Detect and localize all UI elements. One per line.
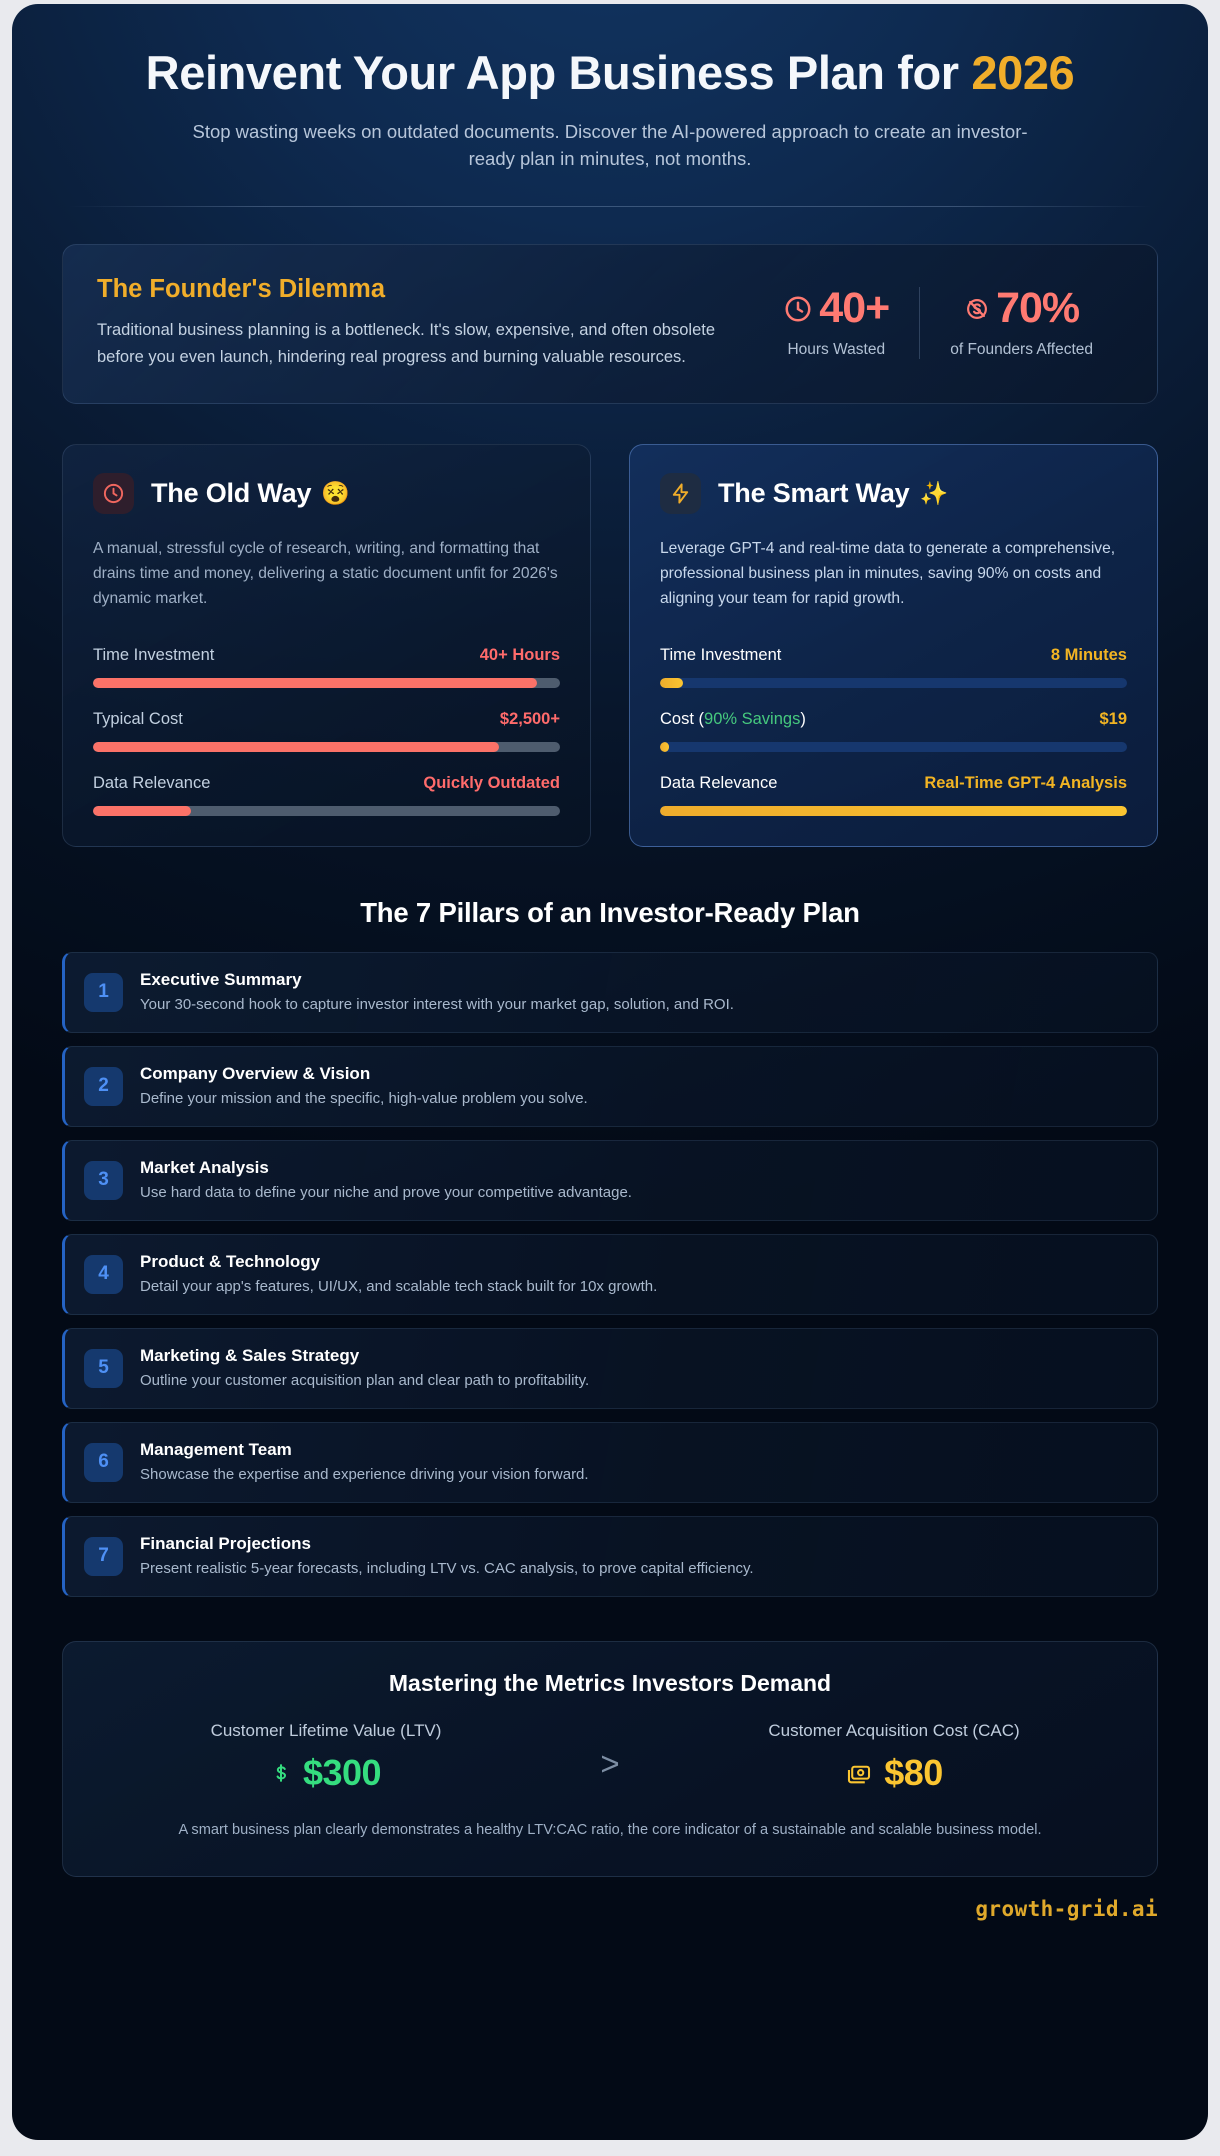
metric-progress-track <box>660 678 1127 688</box>
stat-founders-top: 70% <box>950 287 1093 330</box>
cac-value-wrap: $80 <box>665 1752 1123 1794</box>
dollar-sign-icon <box>271 1760 291 1786</box>
metric-progress-fill <box>93 742 499 752</box>
stat-hours-wasted: 40+ Hours Wasted <box>753 287 919 359</box>
metric-label: Time Investment <box>660 646 781 665</box>
dilemma-text-block: The Founder's Dilemma Traditional busine… <box>97 275 727 370</box>
metric-row: Data Relevance Quickly Outdated <box>93 774 560 816</box>
metrics-note: A smart business plan clearly demonstrat… <box>110 1820 1110 1842</box>
pillar-text: Market Analysis Use hard data to define … <box>140 1158 1135 1203</box>
metric-label-suffix: ) <box>800 710 806 728</box>
pillar-description: Present realistic 5-year forecasts, incl… <box>140 1558 1135 1579</box>
list-item[interactable]: 1 Executive Summary Your 30-second hook … <box>62 952 1158 1033</box>
pillar-name: Company Overview & Vision <box>140 1064 1135 1084</box>
pillar-text: Marketing & Sales Strategy Outline your … <box>140 1346 1135 1391</box>
metric-value: $2,500+ <box>500 710 560 729</box>
pillar-text: Company Overview & Vision Define your mi… <box>140 1064 1135 1109</box>
metric-progress-track <box>660 742 1127 752</box>
metric-progress-fill <box>660 678 683 688</box>
metric-progress-fill <box>660 742 669 752</box>
metric-label-prefix: Cost ( <box>660 710 704 728</box>
pillar-description: Outline your customer acquisition plan a… <box>140 1370 1135 1391</box>
metric-label: Cost (90% Savings) <box>660 710 806 729</box>
metric-value: Quickly Outdated <box>423 774 560 793</box>
smart-way-card: The Smart Way ✨ Leverage GPT-4 and real-… <box>629 444 1158 847</box>
metric-label: Data Relevance <box>93 774 210 793</box>
clock-icon <box>783 294 813 324</box>
metric-row: Data Relevance Real-Time GPT-4 Analysis <box>660 774 1127 816</box>
smart-way-title-wrap: The Smart Way ✨ <box>718 478 948 509</box>
metrics-card-title: Mastering the Metrics Investors Demand <box>97 1670 1123 1697</box>
smart-way-description: Leverage GPT-4 and real-time data to gen… <box>660 536 1127 614</box>
pillar-name: Financial Projections <box>140 1534 1135 1554</box>
metric-label: Typical Cost <box>93 710 183 729</box>
smart-way-metrics: Time Investment 8 Minutes Cost (90% Savi… <box>660 646 1127 816</box>
metric-header: Time Investment 8 Minutes <box>660 646 1127 665</box>
metric-value: 40+ Hours <box>480 646 560 665</box>
greater-than-icon: > <box>555 1735 665 1780</box>
metric-label-savings: 90% Savings <box>704 710 800 728</box>
pillar-name: Executive Summary <box>140 970 1135 990</box>
founders-dilemma-card: The Founder's Dilemma Traditional busine… <box>62 244 1158 403</box>
stat-founders-label: of Founders Affected <box>950 341 1093 359</box>
hero-subtitle: Stop wasting weeks on outdated documents… <box>190 118 1030 173</box>
clock-icon <box>102 482 125 505</box>
pillar-name: Product & Technology <box>140 1252 1135 1272</box>
old-way-header: The Old Way 😵 <box>93 473 560 514</box>
bolt-icon-badge <box>660 473 701 514</box>
smart-way-title: The Smart Way <box>718 478 909 509</box>
metric-value: 8 Minutes <box>1051 646 1127 665</box>
dizzy-face-icon: 😵 <box>321 480 349 507</box>
pillar-number-badge: 7 <box>84 1537 123 1576</box>
old-way-description: A manual, stressful cycle of research, w… <box>93 536 560 614</box>
list-item[interactable]: 2 Company Overview & Vision Define your … <box>62 1046 1158 1127</box>
metric-progress-fill <box>93 678 537 688</box>
pillar-number-badge: 5 <box>84 1349 123 1388</box>
old-way-card: The Old Way 😵 A manual, stressful cycle … <box>62 444 591 847</box>
stat-founders-value: 70% <box>996 287 1079 330</box>
pillar-description: Your 30-second hook to capture investor … <box>140 994 1135 1015</box>
dilemma-stats: 40+ Hours Wasted 70% of Founders Affecte… <box>753 287 1123 359</box>
pillar-description: Use hard data to define your niche and p… <box>140 1182 1135 1203</box>
old-way-title-wrap: The Old Way 😵 <box>151 478 350 509</box>
list-item[interactable]: 6 Management Team Showcase the expertise… <box>62 1422 1158 1503</box>
pillar-number-badge: 6 <box>84 1443 123 1482</box>
metric-header: Typical Cost $2,500+ <box>93 710 560 729</box>
pillar-description: Showcase the expertise and experience dr… <box>140 1464 1135 1485</box>
list-item[interactable]: 7 Financial Projections Present realisti… <box>62 1516 1158 1597</box>
comparison-section: The Old Way 😵 A manual, stressful cycle … <box>62 444 1158 847</box>
banknotes-icon <box>845 1760 872 1786</box>
metric-row: Time Investment 8 Minutes <box>660 646 1127 688</box>
hero-section: Reinvent Your App Business Plan for 2026… <box>12 4 1208 207</box>
metric-row: Time Investment 40+ Hours <box>93 646 560 688</box>
metrics-comparison-row: Customer Lifetime Value (LTV) $300 > Cus… <box>97 1721 1123 1794</box>
metric-label: Time Investment <box>93 646 214 665</box>
ltv-block: Customer Lifetime Value (LTV) $300 <box>97 1721 555 1794</box>
old-way-title: The Old Way <box>151 478 311 509</box>
ltv-value-wrap: $300 <box>97 1752 555 1794</box>
pillar-text: Financial Projections Present realistic … <box>140 1534 1135 1579</box>
stat-hours-value: 40+ <box>819 287 889 330</box>
page-root: Reinvent Your App Business Plan for 2026… <box>0 0 1220 2156</box>
pillar-list: 1 Executive Summary Your 30-second hook … <box>62 952 1158 1597</box>
sparkles-icon: ✨ <box>919 480 947 507</box>
hero-divider <box>68 206 1152 207</box>
page-title-main: Reinvent Your App Business Plan for <box>146 46 972 99</box>
metric-value: $19 <box>1099 710 1127 729</box>
list-item[interactable]: 3 Market Analysis Use hard data to defin… <box>62 1140 1158 1221</box>
pillar-description: Detail your app's features, UI/UX, and s… <box>140 1276 1135 1297</box>
pillar-name: Management Team <box>140 1440 1135 1460</box>
page-title-year: 2026 <box>971 46 1074 99</box>
pillar-number-badge: 2 <box>84 1067 123 1106</box>
metric-header: Data Relevance Real-Time GPT-4 Analysis <box>660 774 1127 793</box>
metric-header: Data Relevance Quickly Outdated <box>93 774 560 793</box>
old-way-metrics: Time Investment 40+ Hours Typical Cost $… <box>93 646 560 816</box>
smart-way-header: The Smart Way ✨ <box>660 473 1127 514</box>
cac-value: $80 <box>884 1752 943 1794</box>
metric-progress-fill <box>660 806 1127 816</box>
cac-block: Customer Acquisition Cost (CAC) $80 <box>665 1721 1123 1794</box>
page-title: Reinvent Your App Business Plan for 2026 <box>68 46 1152 100</box>
brand-footer: growth-grid.ai <box>62 1897 1158 1921</box>
metric-header: Time Investment 40+ Hours <box>93 646 560 665</box>
stat-hours-top: 40+ <box>783 287 889 330</box>
infographic-container: Reinvent Your App Business Plan for 2026… <box>12 4 1208 2140</box>
metric-value: Real-Time GPT-4 Analysis <box>924 774 1127 793</box>
metrics-card: Mastering the Metrics Investors Demand C… <box>62 1641 1158 1877</box>
stat-founders-affected: 70% of Founders Affected <box>919 287 1123 359</box>
ltv-label: Customer Lifetime Value (LTV) <box>97 1721 555 1741</box>
metric-label: Data Relevance <box>660 774 777 793</box>
pillars-section-title: The 7 Pillars of an Investor-Ready Plan <box>12 897 1208 929</box>
bolt-icon <box>669 482 692 505</box>
pillar-text: Product & Technology Detail your app's f… <box>140 1252 1135 1297</box>
stat-hours-label: Hours Wasted <box>783 341 889 359</box>
pillar-number-badge: 1 <box>84 973 123 1012</box>
list-item[interactable]: 5 Marketing & Sales Strategy Outline you… <box>62 1328 1158 1409</box>
metric-progress-track <box>93 806 560 816</box>
pillar-description: Define your mission and the specific, hi… <box>140 1088 1135 1109</box>
list-item[interactable]: 4 Product & Technology Detail your app's… <box>62 1234 1158 1315</box>
pillar-text: Executive Summary Your 30-second hook to… <box>140 970 1135 1015</box>
metric-header: Cost (90% Savings) $19 <box>660 710 1127 729</box>
cac-label: Customer Acquisition Cost (CAC) <box>665 1721 1123 1741</box>
metric-progress-track <box>93 678 560 688</box>
pillar-text: Management Team Showcase the expertise a… <box>140 1440 1135 1485</box>
no-money-icon <box>964 296 990 322</box>
ltv-value: $300 <box>303 1752 381 1794</box>
metric-row: Typical Cost $2,500+ <box>93 710 560 752</box>
pillar-number-badge: 3 <box>84 1161 123 1200</box>
pillar-name: Market Analysis <box>140 1158 1135 1178</box>
clock-icon-badge <box>93 473 134 514</box>
metric-row: Cost (90% Savings) $19 <box>660 710 1127 752</box>
pillar-number-badge: 4 <box>84 1255 123 1294</box>
metric-progress-track <box>93 742 560 752</box>
dilemma-title: The Founder's Dilemma <box>97 275 727 304</box>
metric-progress-fill <box>93 806 191 816</box>
pillar-name: Marketing & Sales Strategy <box>140 1346 1135 1366</box>
dilemma-body: Traditional business planning is a bottl… <box>97 317 727 370</box>
metric-progress-track <box>660 806 1127 816</box>
